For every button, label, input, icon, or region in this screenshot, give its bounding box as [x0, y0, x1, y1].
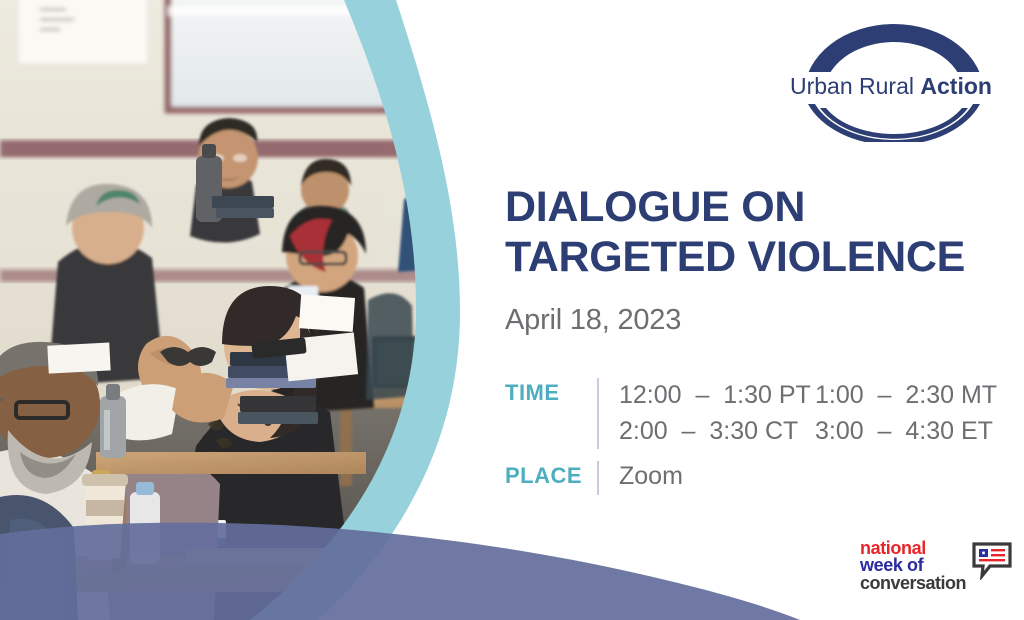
page-title: DIALOGUE ON TARGETED VIOLENCE: [505, 182, 1015, 283]
time-slot-et: 3:00 – 4:30 ET: [815, 414, 997, 450]
title-line-1: DIALOGUE ON: [505, 182, 1015, 232]
title-line-2: TARGETED VIOLENCE: [505, 232, 1015, 282]
workshop-participants-photo: [0, 0, 470, 620]
place-value: Zoom: [619, 461, 683, 491]
flyer-canvas: Urban Rural Action DIALOGUE ON TARGETED …: [0, 0, 1024, 620]
time-slot-mt: 1:00 – 2:30 MT: [815, 378, 997, 414]
ura-wordmark-light: Urban Rural Action: [790, 73, 992, 99]
speech-bubble-flag-icon: [972, 542, 1012, 585]
urban-rural-action-logo: Urban Rural Action: [786, 12, 1002, 142]
nwoc-line-3: conversation: [860, 575, 966, 592]
title-block: DIALOGUE ON TARGETED VIOLENCE April 18, …: [505, 182, 1015, 337]
detail-row-time: TIME 12:00 – 1:30 PT 1:00 – 2:30 MT 2:00…: [505, 378, 1005, 449]
time-values: 12:00 – 1:30 PT 1:00 – 2:30 MT 2:00 – 3:…: [619, 378, 997, 449]
time-divider: [597, 378, 599, 449]
time-label: TIME: [505, 378, 597, 406]
time-slot-pt: 12:00 – 1:30 PT: [619, 378, 815, 414]
speech-bubble-flag-svg: [972, 542, 1012, 580]
photo-illustration: [0, 0, 470, 620]
event-date: April 18, 2023: [505, 304, 1015, 337]
ura-wordmark-bold: Action: [920, 73, 992, 99]
detail-row-place: PLACE Zoom: [505, 461, 1005, 495]
national-week-of-conversation-logo: national week of conversation: [860, 540, 1000, 592]
ura-logo-svg: Urban Rural Action: [786, 12, 1002, 142]
event-details: TIME 12:00 – 1:30 PT 1:00 – 2:30 MT 2:00…: [505, 378, 1005, 495]
time-slot-ct: 2:00 – 3:30 CT: [619, 414, 815, 450]
place-divider: [597, 461, 599, 495]
content-pane: Urban Rural Action DIALOGUE ON TARGETED …: [470, 0, 1024, 620]
nwoc-wordmark: national week of conversation: [860, 540, 966, 592]
place-label: PLACE: [505, 461, 597, 489]
